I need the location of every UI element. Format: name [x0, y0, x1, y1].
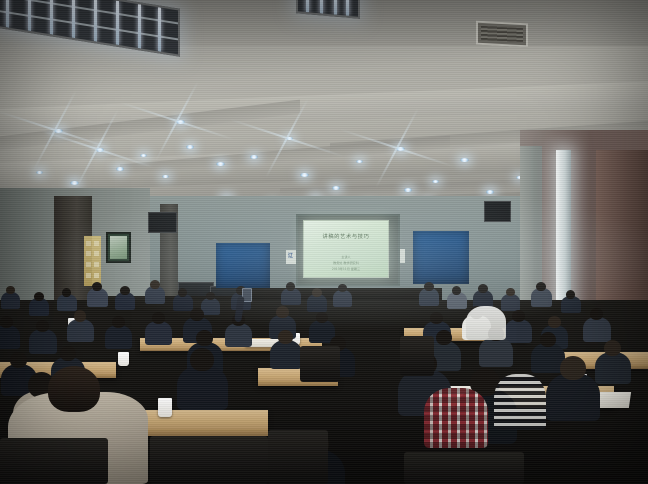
white-shirt-person [466, 306, 506, 340]
audience-member-torso [583, 317, 611, 342]
audience-member-head [506, 288, 515, 296]
audience-member-head [196, 330, 213, 346]
ceiling-downlight [486, 190, 494, 194]
audience-member-torso [270, 340, 302, 369]
audience-member-head [338, 284, 347, 292]
mug-mid-left [118, 352, 129, 366]
slide-subtitle-3: 2013年11月 星期三 [304, 266, 388, 271]
audience-member-head [604, 340, 621, 356]
ceiling-air-vent-icon [476, 21, 528, 48]
logo-board-left-text: 辽 [288, 252, 293, 259]
projection-screen: 讲稿的艺术与技巧 主讲人 教务处 教学研究科 2013年11月 星期三 [303, 220, 389, 278]
audience-member-torso [281, 288, 301, 305]
chair-front-far-right [404, 452, 524, 484]
audience-member-head [436, 330, 452, 345]
audience-member-head [278, 330, 293, 344]
audience-member-head [92, 282, 102, 291]
audience-member-torso [333, 290, 352, 307]
blue-panel-right [413, 231, 469, 284]
audience-member-torso [225, 323, 252, 347]
audience-member-torso [145, 286, 165, 304]
audience-member-torso [29, 298, 49, 316]
audience-member-torso [115, 292, 135, 310]
right-wall-panel [596, 150, 648, 325]
audience-member-torso [505, 319, 532, 343]
audience-member-torso [29, 329, 57, 354]
notice-board [84, 236, 101, 286]
striped-shirt-person [494, 374, 546, 430]
audience-member-head [276, 306, 289, 318]
audience-member-head [540, 332, 556, 347]
ceiling-downlight [70, 181, 79, 185]
wall-speaker-left [148, 212, 177, 233]
slide-subtitle-2: 教务处 教学研究科 [304, 260, 388, 265]
audience-member-torso [87, 288, 108, 307]
plaid-shirt-person [424, 388, 488, 448]
audience-member-head [286, 282, 295, 291]
audience-member-head [0, 316, 13, 328]
lecture-hall-photo: 辽 辽宁 讲稿的艺术与技巧 主讲人 教务处 教学研究科 2013年11月 星期三 [0, 0, 648, 484]
audience-member-head [312, 288, 322, 297]
chair-front-center [150, 436, 268, 484]
audience-member-head [560, 356, 586, 380]
audience-member-torso [105, 325, 132, 349]
ceiling-downlight [54, 129, 63, 133]
audience-member-head [34, 292, 44, 301]
audience-member-head [452, 286, 461, 295]
audience-member-torso [0, 325, 20, 349]
audience-member-head [424, 282, 434, 291]
ceiling-downlight [332, 186, 340, 190]
mug-front [158, 398, 172, 417]
audience-member-torso [67, 319, 94, 342]
chair-front-right [268, 430, 328, 484]
blue-panel-left [216, 243, 270, 288]
ceiling-downlight [96, 148, 104, 152]
ceiling-downlight [216, 162, 225, 166]
audience-member-head [36, 320, 49, 332]
ceiling-downlight [300, 173, 309, 177]
audience-member-head [206, 292, 215, 300]
audience-member-torso [177, 365, 228, 410]
audience-member-torso [419, 288, 439, 306]
audience-member-head [512, 310, 525, 322]
audience-member-torso [531, 288, 552, 307]
chair-mid-center [300, 346, 340, 382]
ceiling-downlight [186, 145, 194, 149]
audience-member-head [190, 308, 204, 321]
chair-mid-right [400, 336, 434, 376]
audience-member-head [10, 352, 27, 368]
audience-member-head [150, 280, 160, 289]
ceiling-downlight [116, 167, 124, 171]
slide-subtitle-1: 主讲人 [304, 254, 388, 259]
audience-member-torso [595, 352, 631, 384]
audience-member-torso [561, 296, 581, 313]
audience-member-head [152, 312, 165, 324]
audience-member-head [62, 288, 71, 297]
audience-member-torso [173, 294, 193, 311]
audience-member-torso [546, 373, 600, 421]
framed-picture [106, 232, 131, 263]
audience-member-head [178, 288, 187, 297]
audience-member-head [316, 312, 328, 323]
audience-member-head [478, 284, 488, 293]
audience-member-head [120, 286, 130, 295]
chair-front-left [0, 438, 108, 484]
audience-member-torso [1, 292, 20, 309]
audience-member-head [566, 290, 575, 299]
ceiling-downlight [396, 147, 405, 151]
audience-member-torso [501, 294, 520, 311]
ceiling-downlight [176, 120, 185, 124]
tan-jacket-head [48, 366, 100, 412]
audience-member-head [548, 316, 561, 328]
ceiling-downlight [460, 158, 469, 162]
ceiling-downlight [250, 155, 258, 159]
audience-member-torso [57, 294, 77, 311]
audience-member-head [6, 286, 15, 294]
audience-member-torso [479, 337, 513, 367]
audience-member-torso [307, 294, 327, 312]
audience-member-head [190, 348, 214, 371]
wall-speaker-right [484, 201, 511, 222]
audience-member-torso [145, 321, 172, 345]
audience-member-torso [447, 292, 467, 309]
audience-member-head [74, 310, 86, 322]
ceiling-downlight [404, 188, 412, 192]
audience-member-head [60, 346, 76, 361]
audience-member-head [536, 282, 546, 291]
audience-member-head [430, 312, 443, 324]
slide-title: 讲稿的艺术与技巧 [304, 233, 388, 240]
audience-member-head [590, 308, 603, 320]
audience-member-head [112, 316, 125, 328]
